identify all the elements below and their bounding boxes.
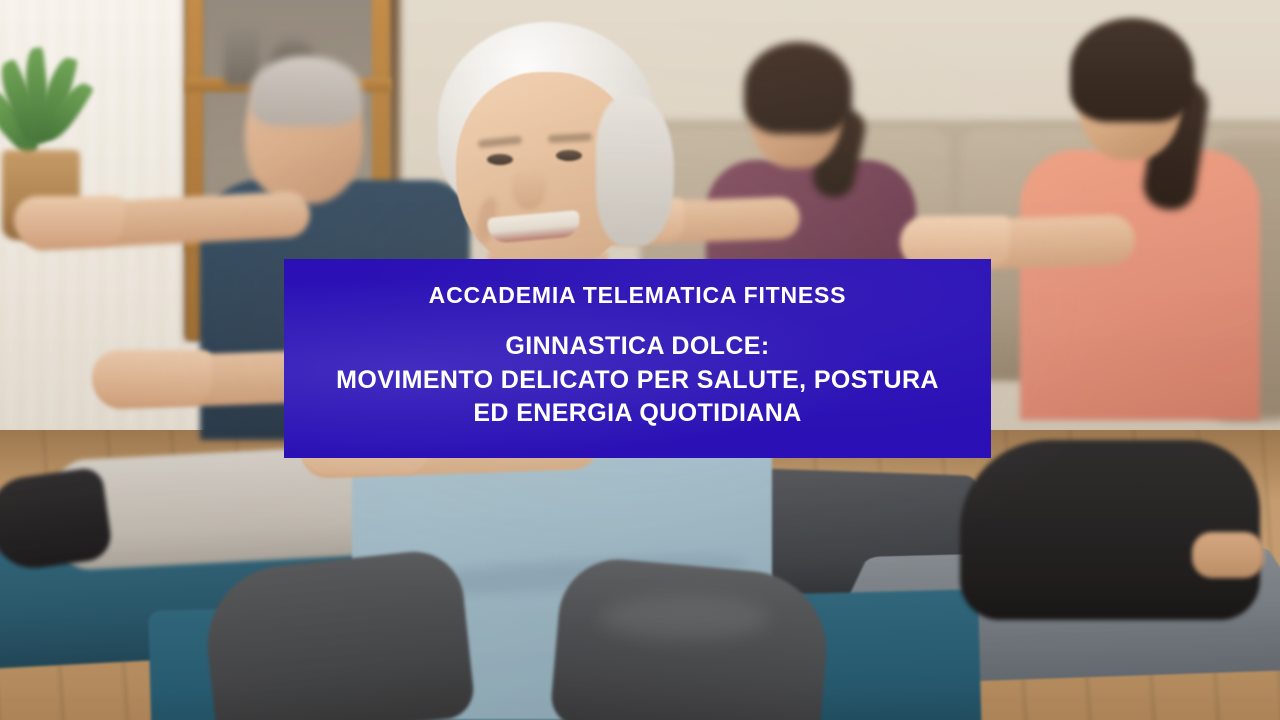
person-man-left-hand-lower [92,350,212,404]
person-woman-salmon-torso [1020,150,1260,420]
person-man-left-sock [0,466,114,574]
headline-line-3: ED ENERGIA QUOTIDIANA [336,397,939,431]
banner-stage: ACCADEMIA TELEMATICA FITNESS GINNASTICA … [0,0,1280,720]
headline-line-1: GINNASTICA DOLCE: [336,330,939,364]
text-overlay-panel: ACCADEMIA TELEMATICA FITNESS GINNASTICA … [284,259,991,458]
person-woman-salmon-foot [1192,532,1264,578]
headline-line-2: MOVIMENTO DELICATO PER SALUTE, POSTURA [336,364,939,398]
person-woman-center-knee-highlight [600,596,770,640]
person-woman-center-hair-side [596,96,674,246]
person-man-left-hand [14,196,124,244]
person-woman-salmon-hair [1070,18,1194,122]
person-woman-center-eye [556,150,582,161]
person-woman-salmon-legs [960,440,1260,620]
person-woman-maroon-hair [744,42,852,134]
person-man-left-hair [250,56,362,126]
person-woman-center-nose [512,168,546,210]
person-woman-center-eye [487,154,513,165]
headline: GINNASTICA DOLCE: MOVIMENTO DELICATO PER… [336,330,939,431]
brand-title: ACCADEMIA TELEMATICA FITNESS [429,283,847,308]
